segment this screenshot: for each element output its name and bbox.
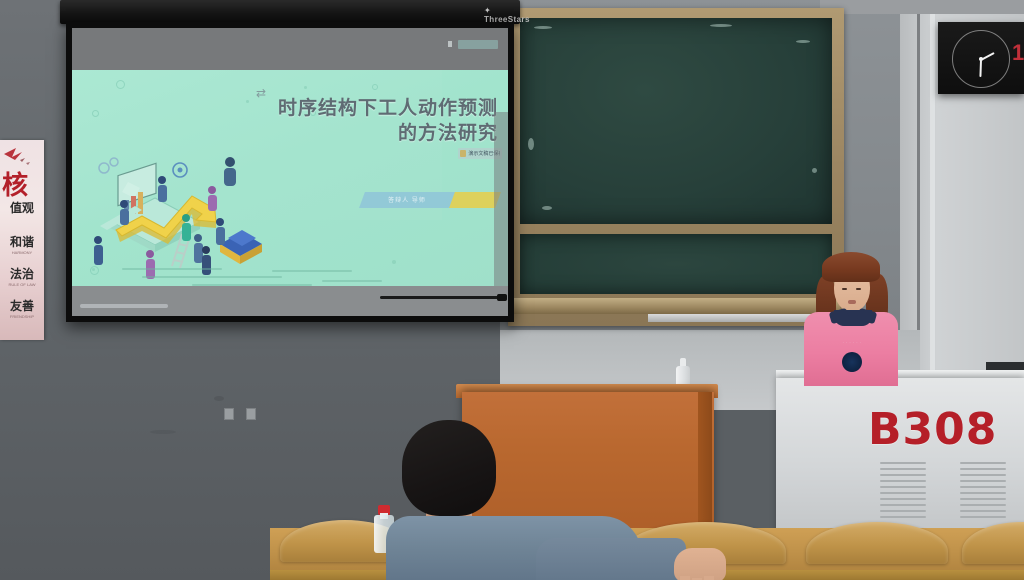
screen-letterbox-top	[72, 28, 508, 70]
blackboard-surface-lower	[520, 234, 832, 294]
presenter-mouth	[848, 300, 856, 304]
presenter-hair-top	[822, 252, 880, 282]
clock-face	[952, 30, 1010, 88]
screen-footer-line	[80, 304, 168, 308]
student-hand	[674, 548, 726, 580]
student-arm	[536, 538, 686, 580]
projector-screen-case: ✦ ThreeStars	[60, 0, 520, 24]
digital-display-digit: 1	[1012, 40, 1024, 66]
isometric-illustration	[80, 126, 280, 286]
screen-pull-bar[interactable]	[380, 296, 500, 299]
values-poster: 核 值观 和谐 HARMONY 法治 RULE OF LAW 友善 FRIEND…	[0, 140, 44, 340]
clock-minute-hand	[979, 60, 982, 77]
wall-scuff	[150, 430, 176, 434]
room-number-label: B308	[868, 404, 997, 455]
ceiling-strip	[820, 0, 1024, 14]
student-head	[402, 420, 496, 516]
poster-line-harmony: 和谐	[0, 236, 44, 248]
poster-line-friendship: 友善	[0, 300, 44, 312]
cabinet-vent	[960, 462, 1006, 522]
poster-big-char: 核	[2, 174, 42, 196]
projection-screen: ⇄	[66, 22, 514, 322]
blackboard	[508, 8, 844, 326]
seated-student	[386, 420, 716, 580]
screen-pull-knob[interactable]	[497, 294, 507, 301]
wall-pillar-edge	[930, 0, 935, 420]
cabinet-vent	[880, 462, 926, 522]
poster-sub-friendship: FRIENDSHIP	[0, 314, 44, 319]
wall-scuff	[214, 396, 224, 401]
light-switch[interactable]	[246, 408, 256, 420]
screen-top-mark	[448, 41, 452, 47]
document-icon	[460, 150, 466, 157]
clock-center-pin	[979, 57, 983, 61]
presentation-slide: ⇄	[72, 70, 508, 296]
poster-values-text: 值观	[0, 202, 44, 214]
presenter-logo-badge	[842, 352, 862, 372]
screen-letterbox-bottom	[72, 286, 508, 316]
slide-title-line1: 时序结构下工人动作预测	[178, 96, 498, 121]
presenter-person: · · · · · ·	[800, 252, 902, 386]
slide-banner-text: 答辩人 导师	[362, 195, 452, 204]
blackboard-chalk-rail	[514, 298, 840, 314]
poster-sub-harmony: HARMONY	[0, 250, 44, 255]
light-switch[interactable]	[224, 408, 234, 420]
slide-title: 时序结构下工人动作预测 的方法研究	[178, 96, 498, 146]
screen-top-chip	[458, 40, 498, 49]
blackboard-surface-upper	[520, 18, 832, 224]
slide-right-gutter	[494, 112, 508, 296]
star-icon: ✦	[484, 6, 491, 15]
poster-sub-rule-of-law: RULE OF LAW	[0, 282, 44, 287]
presenter-logo-text: · · · · · ·	[826, 340, 878, 345]
classroom-scene: 核 值观 和谐 HARMONY 法治 RULE OF LAW 友善 FRIEND…	[0, 0, 1024, 580]
slide-title-line2: 的方法研究	[178, 121, 498, 146]
poster-line-rule-of-law: 法治	[0, 268, 44, 280]
